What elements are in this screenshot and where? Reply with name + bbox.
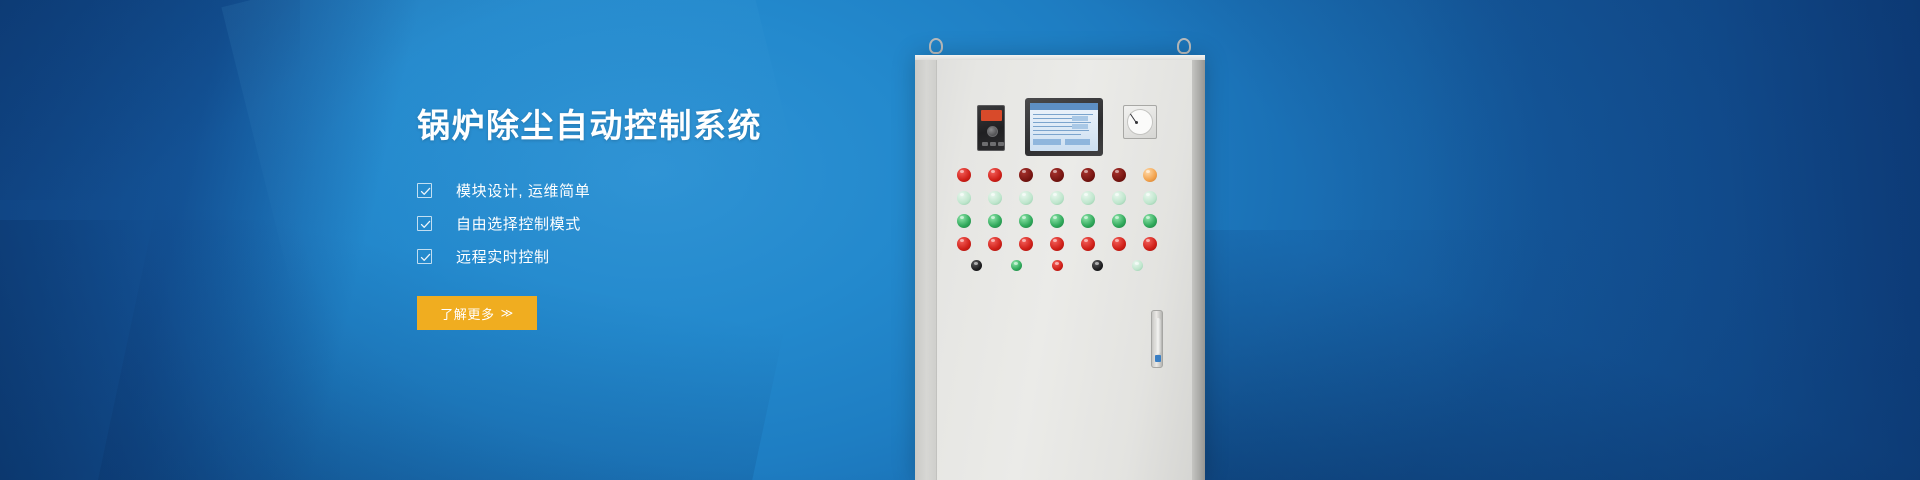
list-item-label: 模块设计, 运维简单 — [456, 180, 590, 201]
indicator-light-row — [957, 214, 1157, 228]
hmi-text-line — [1033, 122, 1091, 123]
indicator-lamp-icon — [988, 214, 1002, 228]
indicator-lamp-icon — [1052, 260, 1063, 271]
list-item: 远程实时控制 — [417, 240, 937, 273]
handle-grip — [1155, 318, 1161, 354]
banner-copy-block: 锅炉除尘自动控制系统 模块设计, 运维简单 自由选择控制模式 — [417, 104, 937, 330]
lifting-eyelet-left — [929, 38, 943, 54]
cabinet-door-handle[interactable] — [1151, 310, 1163, 368]
hmi-screen — [1030, 103, 1098, 151]
indicator-lamp-icon — [1143, 237, 1157, 251]
list-item-label: 远程实时控制 — [456, 246, 550, 267]
checkbox-check-icon — [417, 249, 432, 264]
indicator-lamp-icon — [1112, 191, 1126, 205]
frequency-drive-module — [977, 105, 1005, 151]
drive-display-icon — [981, 110, 1002, 121]
indicator-lamp-icon — [1112, 214, 1126, 228]
indicator-lamp-icon — [1011, 260, 1022, 271]
hmi-text-line — [1033, 134, 1081, 135]
drive-button-icon — [990, 142, 996, 146]
hmi-value-cell — [1033, 139, 1061, 145]
indicator-lamp-icon — [1019, 168, 1033, 182]
indicator-lamp-icon — [1112, 168, 1126, 182]
indicator-lamp-icon — [988, 168, 1002, 182]
indicator-light-row — [957, 237, 1157, 251]
indicator-light-row — [957, 260, 1157, 274]
hmi-text-line — [1033, 130, 1089, 131]
checkbox-check-icon — [417, 183, 432, 198]
drive-button-icon — [998, 142, 1004, 146]
hmi-titlebar — [1030, 103, 1098, 110]
learn-more-label: 了解更多 — [440, 304, 494, 323]
indicator-lamp-icon — [1050, 214, 1064, 228]
indicator-lamp-icon — [1019, 191, 1033, 205]
indicator-lamp-icon — [971, 260, 982, 271]
indicator-lamp-icon — [1081, 214, 1095, 228]
learn-more-button[interactable]: 了解更多 ≫ — [417, 296, 537, 330]
indicator-lamp-icon — [957, 237, 971, 251]
hero-banner: 锅炉除尘自动控制系统 模块设计, 运维简单 自由选择控制模式 — [0, 0, 1920, 480]
page-title: 锅炉除尘自动控制系统 — [417, 104, 937, 148]
handle-lock-icon — [1155, 355, 1161, 362]
gauge-pivot — [1135, 121, 1138, 124]
indicator-lamp-icon — [1050, 237, 1064, 251]
indicator-lamp-icon — [1081, 168, 1095, 182]
indicator-lamp-icon — [1112, 237, 1126, 251]
indicator-lamp-icon — [1132, 260, 1143, 271]
hmi-text-line — [1033, 114, 1093, 115]
drive-knob-icon — [987, 126, 998, 137]
indicator-lamp-icon — [1143, 214, 1157, 228]
indicator-lamp-icon — [988, 237, 1002, 251]
control-cabinet-image — [905, 0, 1225, 480]
cabinet-right-edge — [1192, 55, 1205, 480]
indicator-light-row — [957, 191, 1157, 205]
indicator-lamp-icon — [957, 214, 971, 228]
indicator-lamp-icon — [1050, 191, 1064, 205]
list-item: 自由选择控制模式 — [417, 207, 937, 240]
double-chevron-right-icon: ≫ — [501, 306, 514, 320]
indicator-lamp-icon — [957, 168, 971, 182]
hmi-value-cell — [1072, 124, 1088, 129]
indicator-lamp-icon — [1143, 191, 1157, 205]
indicator-lamp-icon — [1143, 168, 1157, 182]
indicator-lamp-icon — [1019, 237, 1033, 251]
hmi-touchscreen-panel — [1025, 98, 1103, 156]
checkbox-check-icon — [417, 216, 432, 231]
indicator-light-grid — [957, 168, 1157, 283]
indicator-lamp-icon — [1050, 168, 1064, 182]
list-item-label: 自由选择控制模式 — [456, 213, 581, 234]
indicator-lamp-icon — [1081, 237, 1095, 251]
lifting-eyelet-right — [1177, 38, 1191, 54]
indicator-lamp-icon — [1081, 191, 1095, 205]
cabinet-top-edge — [915, 55, 1205, 60]
indicator-light-row — [957, 168, 1157, 182]
indicator-lamp-icon — [957, 191, 971, 205]
indicator-lamp-icon — [988, 191, 1002, 205]
drive-button-icon — [982, 142, 988, 146]
hmi-text-line — [1033, 126, 1077, 127]
indicator-lamp-icon — [1092, 260, 1103, 271]
analog-gauge — [1123, 105, 1157, 139]
list-item: 模块设计, 运维简单 — [417, 174, 937, 207]
indicator-lamp-icon — [1019, 214, 1033, 228]
feature-bullet-list: 模块设计, 运维简单 自由选择控制模式 远程实时控制 — [417, 174, 937, 273]
hmi-value-cell — [1072, 116, 1088, 121]
hmi-value-cell — [1065, 139, 1090, 145]
